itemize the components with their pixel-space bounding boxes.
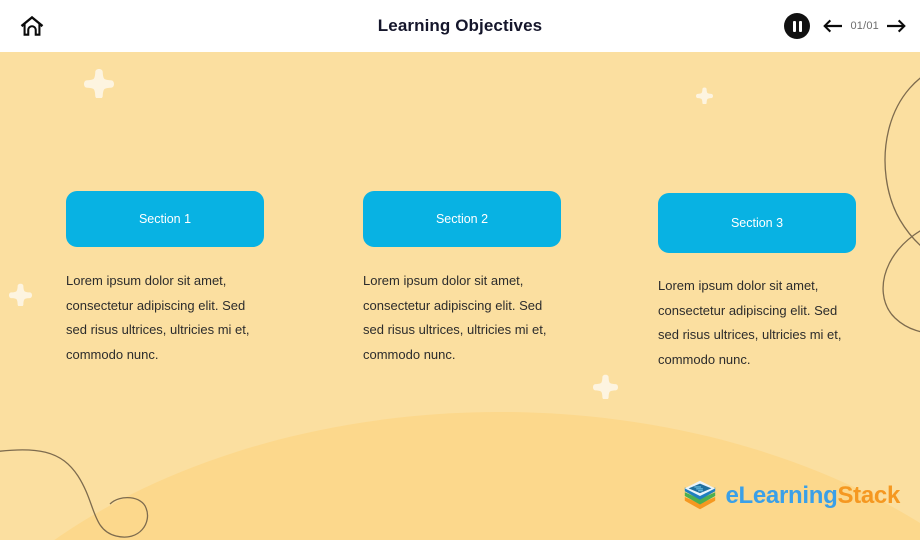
slide-header: Learning Objectives 01/01 — [0, 0, 920, 52]
header-controls: 01/01 — [784, 0, 908, 52]
pause-button[interactable] — [784, 13, 810, 39]
section-body-2: Lorem ipsum dolor sit amet, consectetur … — [363, 269, 561, 367]
objective-column: Section 2 Lorem ipsum dolor sit amet, co… — [363, 191, 561, 367]
brand-name-part-1: eLearning — [725, 482, 837, 509]
page-title: Learning Objectives — [0, 0, 920, 52]
slide-content: Section 1 Lorem ipsum dolor sit amet, co… — [0, 52, 920, 540]
pause-icon — [793, 21, 796, 32]
brand-logo: eLearningStack — [681, 477, 900, 515]
slide-counter: 01/01 — [850, 20, 879, 32]
stacked-layers-icon — [681, 477, 719, 515]
section-chip-1[interactable]: Section 1 — [66, 191, 264, 247]
objective-column: Section 3 Lorem ipsum dolor sit amet, co… — [658, 193, 856, 372]
brand-name-part-2: Stack — [837, 482, 900, 509]
section-body-1: Lorem ipsum dolor sit amet, consectetur … — [66, 269, 264, 367]
brand-logo-text: eLearningStack — [725, 482, 900, 510]
section-chip-3[interactable]: Section 3 — [658, 193, 856, 253]
objective-column: Section 1 Lorem ipsum dolor sit amet, co… — [66, 191, 264, 367]
section-body-3: Lorem ipsum dolor sit amet, consectetur … — [658, 274, 856, 372]
next-slide-button[interactable] — [886, 18, 908, 34]
slide-navigation: 01/01 — [821, 18, 908, 34]
arrow-right-icon — [886, 18, 908, 34]
slide-stage: Learning Objectives 01/01 — [0, 0, 920, 540]
prev-slide-button[interactable] — [821, 18, 843, 34]
pause-icon — [799, 21, 802, 32]
section-chip-2[interactable]: Section 2 — [363, 191, 561, 247]
arrow-left-icon — [821, 18, 843, 34]
